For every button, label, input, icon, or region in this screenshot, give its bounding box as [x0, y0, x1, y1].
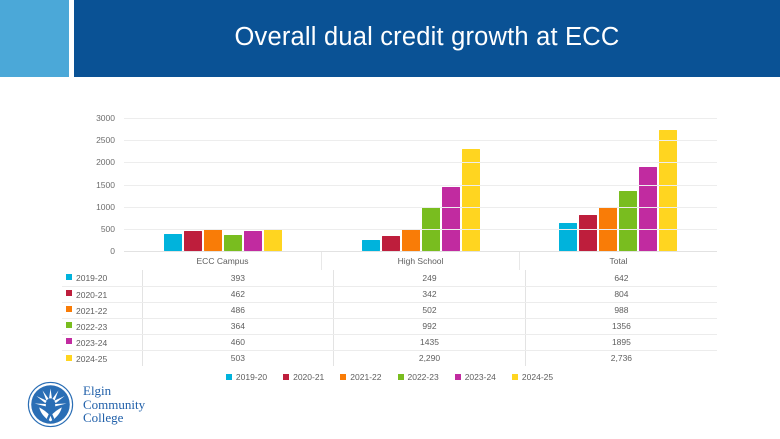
bar-2021-22-ecc-campus[interactable] — [204, 229, 222, 251]
legend-item-2020-21[interactable]: 2020-21 — [283, 372, 324, 382]
table-cell: 642 — [525, 270, 717, 286]
category-label: Total — [520, 252, 717, 270]
table-cell: 342 — [334, 286, 526, 302]
table-row: 2022-233649921356 — [62, 318, 717, 334]
table-cell: 364 — [142, 318, 334, 334]
series-color-swatch — [66, 306, 72, 312]
bar-2019-20-total[interactable] — [559, 223, 577, 251]
bar-2024-25-ecc-campus[interactable] — [264, 229, 282, 251]
chart-legend: 2019-202020-212021-222022-232023-242024-… — [62, 372, 717, 382]
gridline — [124, 162, 717, 163]
plot-area — [124, 118, 717, 251]
gridline — [124, 207, 717, 208]
series-name: 2023-24 — [76, 337, 107, 347]
gridline — [124, 140, 717, 141]
logo-wordmark: Elgin Community College — [83, 384, 145, 425]
table-cell: 393 — [142, 270, 334, 286]
legend-color-swatch — [398, 374, 404, 380]
bar-chart: 050010001500200025003000 ECC CampusHigh … — [77, 118, 717, 270]
bar-2020-21-total[interactable] — [579, 215, 597, 251]
slide: Overall dual credit growth at ECC 050010… — [0, 0, 780, 439]
legend-color-swatch — [340, 374, 346, 380]
bar-2019-20-ecc-campus[interactable] — [164, 234, 182, 251]
bar-2024-25-high-school[interactable] — [462, 149, 480, 251]
logo-line-3: College — [83, 411, 145, 425]
legend-item-2024-25[interactable]: 2024-25 — [512, 372, 553, 382]
bar-2019-20-high-school[interactable] — [362, 240, 380, 251]
table-cell: 462 — [142, 286, 334, 302]
data-table: 2019-203932496422020-214623428042021-224… — [62, 270, 717, 366]
bar-2022-23-ecc-campus[interactable] — [224, 235, 242, 251]
bar-2023-24-total[interactable] — [639, 167, 657, 251]
legend-label: 2020-21 — [293, 372, 324, 382]
table-cell: 1895 — [525, 334, 717, 350]
logo-line-2: Community — [83, 398, 145, 412]
y-axis-tick-label: 2500 — [96, 135, 115, 145]
y-axis-tick-label: 2000 — [96, 157, 115, 167]
college-seal-icon — [27, 381, 74, 428]
table-cell: 486 — [142, 302, 334, 318]
table-cell: 2,736 — [525, 350, 717, 366]
table-row-label: 2020-21 — [62, 286, 142, 302]
bar-2023-24-high-school[interactable] — [442, 187, 460, 251]
table-cell: 1356 — [525, 318, 717, 334]
series-color-swatch — [66, 322, 72, 328]
table-cell: 460 — [142, 334, 334, 350]
legend-label: 2021-22 — [350, 372, 381, 382]
gridline — [124, 185, 717, 186]
category-label: ECC Campus — [124, 252, 322, 270]
table-cell: 992 — [334, 318, 526, 334]
table-cell: 2,290 — [334, 350, 526, 366]
y-axis-tick-label: 500 — [101, 224, 115, 234]
series-color-swatch — [66, 355, 72, 361]
series-name: 2024-25 — [76, 354, 107, 364]
legend-color-swatch — [512, 374, 518, 380]
bar-2023-24-ecc-campus[interactable] — [244, 231, 262, 251]
bar-2020-21-high-school[interactable] — [382, 236, 400, 251]
series-name: 2019-20 — [76, 273, 107, 283]
table-row: 2023-2446014351895 — [62, 334, 717, 350]
legend-color-swatch — [455, 374, 461, 380]
table-cell: 988 — [525, 302, 717, 318]
table-cell: 249 — [334, 270, 526, 286]
bar-2020-21-ecc-campus[interactable] — [184, 231, 202, 251]
gridline — [124, 229, 717, 230]
table-cell: 1435 — [334, 334, 526, 350]
legend-color-swatch — [283, 374, 289, 380]
table-row-label: 2019-20 — [62, 270, 142, 286]
series-name: 2022-23 — [76, 321, 107, 331]
table-row: 2020-21462342804 — [62, 286, 717, 302]
legend-item-2021-22[interactable]: 2021-22 — [340, 372, 381, 382]
table-row: 2021-22486502988 — [62, 302, 717, 318]
legend-label: 2022-23 — [408, 372, 439, 382]
legend-color-swatch — [226, 374, 232, 380]
slide-header: Overall dual credit growth at ECC — [0, 0, 780, 81]
table-cell: 502 — [334, 302, 526, 318]
series-color-swatch — [66, 274, 72, 280]
legend-item-2019-20[interactable]: 2019-20 — [226, 372, 267, 382]
legend-item-2023-24[interactable]: 2023-24 — [455, 372, 496, 382]
y-axis: 050010001500200025003000 — [77, 118, 119, 251]
legend-label: 2023-24 — [465, 372, 496, 382]
table-row-label: 2021-22 — [62, 302, 142, 318]
category-label: High School — [322, 252, 520, 270]
y-axis-tick-label: 3000 — [96, 113, 115, 123]
data-table-body: 2019-203932496422020-214623428042021-224… — [62, 270, 717, 366]
y-axis-tick-label: 1500 — [96, 180, 115, 190]
page-title: Overall dual credit growth at ECC — [234, 23, 619, 54]
header-title-bar: Overall dual credit growth at ECC — [74, 0, 780, 77]
header-accent-block — [0, 0, 69, 77]
legend-label: 2019-20 — [236, 372, 267, 382]
series-color-swatch — [66, 290, 72, 296]
bar-2024-25-total[interactable] — [659, 130, 677, 251]
legend-label: 2024-25 — [522, 372, 553, 382]
bar-2021-22-high-school[interactable] — [402, 229, 420, 251]
series-color-swatch — [66, 338, 72, 344]
y-axis-tick-label: 0 — [110, 246, 115, 256]
table-row-label: 2022-23 — [62, 318, 142, 334]
series-name: 2021-22 — [76, 305, 107, 315]
bar-2022-23-total[interactable] — [619, 191, 637, 251]
legend-item-2022-23[interactable]: 2022-23 — [398, 372, 439, 382]
logo-line-1: Elgin — [83, 384, 145, 398]
table-cell: 503 — [142, 350, 334, 366]
table-cell: 804 — [525, 286, 717, 302]
series-name: 2020-21 — [76, 289, 107, 299]
category-axis: ECC CampusHigh SchoolTotal — [124, 251, 717, 270]
gridline — [124, 118, 717, 119]
table-row-label: 2024-25 — [62, 350, 142, 366]
y-axis-tick-label: 1000 — [96, 202, 115, 212]
elgin-community-college-logo: Elgin Community College — [27, 381, 145, 428]
table-row: 2024-255032,2902,736 — [62, 350, 717, 366]
table-row: 2019-20393249642 — [62, 270, 717, 286]
table-row-label: 2023-24 — [62, 334, 142, 350]
